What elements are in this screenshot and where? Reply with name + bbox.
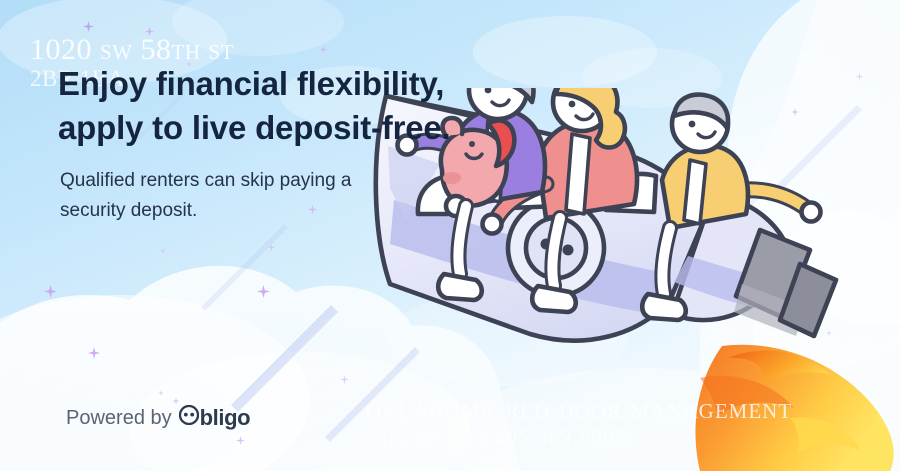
company-phone[interactable]: Call or text 405.369.8905: [366, 424, 627, 450]
ad-banner: 1020 SW 58th St 2BR 1BA Enjoy financial …: [0, 0, 900, 471]
obligo-wordmark: bligo: [200, 405, 251, 431]
page-title: Enjoy financial flexibility, apply to li…: [58, 62, 528, 150]
obligo-logo[interactable]: bligo: [179, 405, 251, 431]
subheadline-line-1: Qualified renters can skip paying a: [60, 166, 440, 196]
headline-line-2: apply to live deposit-free.: [58, 106, 528, 150]
powered-by-obligo: Powered by bligo: [66, 405, 250, 431]
headline-line-1: Enjoy financial flexibility,: [58, 62, 528, 106]
subheadline: Qualified renters can skip paying a secu…: [60, 166, 440, 226]
powered-by-label: Powered by: [66, 407, 172, 430]
subheadline-line-2: security deposit.: [60, 196, 440, 226]
company-name: Oklahoma Red Door Management: [366, 392, 792, 426]
banner-content: 1020 SW 58th St 2BR 1BA Enjoy financial …: [0, 0, 900, 471]
obligo-o-mark-icon: [179, 405, 199, 431]
